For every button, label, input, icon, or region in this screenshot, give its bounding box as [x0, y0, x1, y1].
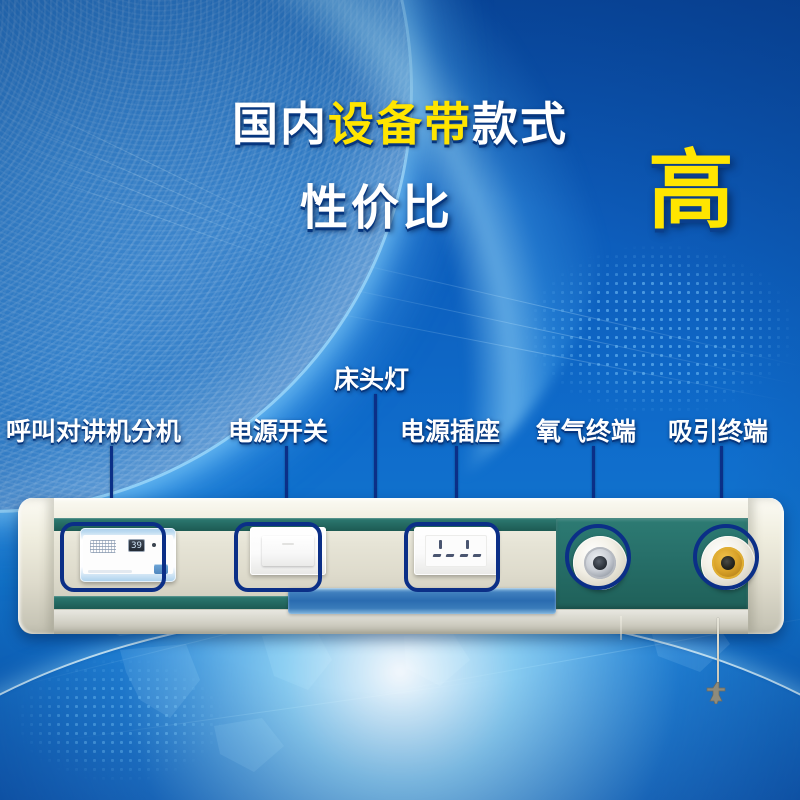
highlight-circle-suction [693, 524, 759, 590]
cord-connector-icon [704, 682, 732, 704]
callout-label-intercom: 呼叫对讲机分机 [6, 412, 181, 448]
panel-end-cap-left [18, 498, 54, 634]
highlight-circle-oxygen [565, 524, 631, 590]
highlight-box-power-socket [404, 522, 500, 592]
suction-hanging-cord [717, 618, 719, 688]
oxygen-hanging-cord [620, 616, 622, 640]
callout-label-bed-lamp: 床头灯 [334, 360, 409, 396]
highlight-box-power-switch [234, 522, 322, 592]
callout-label-suction-outlet: 吸引终端 [668, 412, 768, 448]
highlight-box-intercom [60, 522, 166, 592]
callout-label-power-switch: 电源开关 [228, 412, 328, 448]
callout-label-oxygen-outlet: 氧气终端 [536, 412, 636, 448]
callout-label-power-socket: 电源插座 [400, 412, 500, 448]
callout-labels: 呼叫对讲机分机 电源开关 床头灯 电源插座 氧气终端 吸引终端 [0, 0, 800, 800]
